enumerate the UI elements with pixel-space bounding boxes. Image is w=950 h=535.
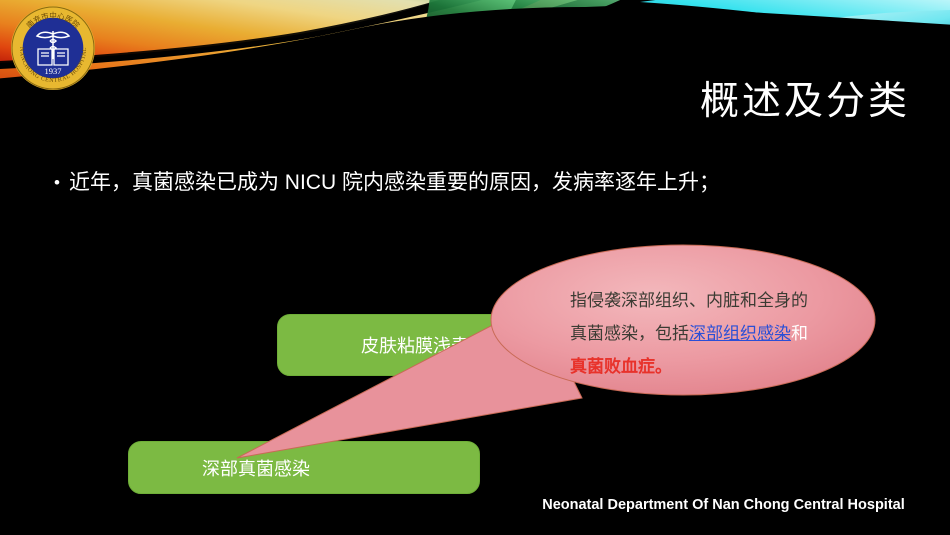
callout-text: 指侵袭深部组织、内脏和全身的真菌感染，包括深部组织感染和真菌败血症。: [570, 284, 820, 383]
box-deep-infection[interactable]: 深部真菌感染: [128, 441, 480, 494]
callout-segment-link[interactable]: 深部组织感染: [689, 324, 791, 343]
callout-segment-emphasis: 真菌败血症。: [570, 357, 672, 376]
footer-text: Neonatal Department Of Nan Chong Central…: [497, 494, 950, 517]
logo-year: 1937: [45, 66, 62, 76]
page-title: 概述及分类: [700, 79, 910, 125]
bullet-marker-icon: •: [54, 168, 60, 198]
bullet-line: • 近年，真菌感染已成为 NICU 院内感染重要的原因，发病率逐年上升；: [54, 168, 720, 198]
callout-segment-conjunction: 和: [791, 324, 808, 343]
box-shallow-infection[interactable]: 皮肤粘膜浅表感染: [277, 314, 519, 376]
hospital-logo: 南充市中心医院 NANCHONG CENTRAL HOSPITAL 1937: [8, 3, 98, 93]
box-deep-infection-label: 深部真菌感染: [202, 455, 310, 481]
slide: 南充市中心医院 NANCHONG CENTRAL HOSPITAL 1937 概…: [0, 0, 950, 535]
box-shallow-infection-label: 皮肤粘膜浅表感染: [361, 332, 505, 358]
bullet-text: 近年，真菌感染已成为 NICU 院内感染重要的原因，发病率逐年上升；: [69, 168, 720, 198]
